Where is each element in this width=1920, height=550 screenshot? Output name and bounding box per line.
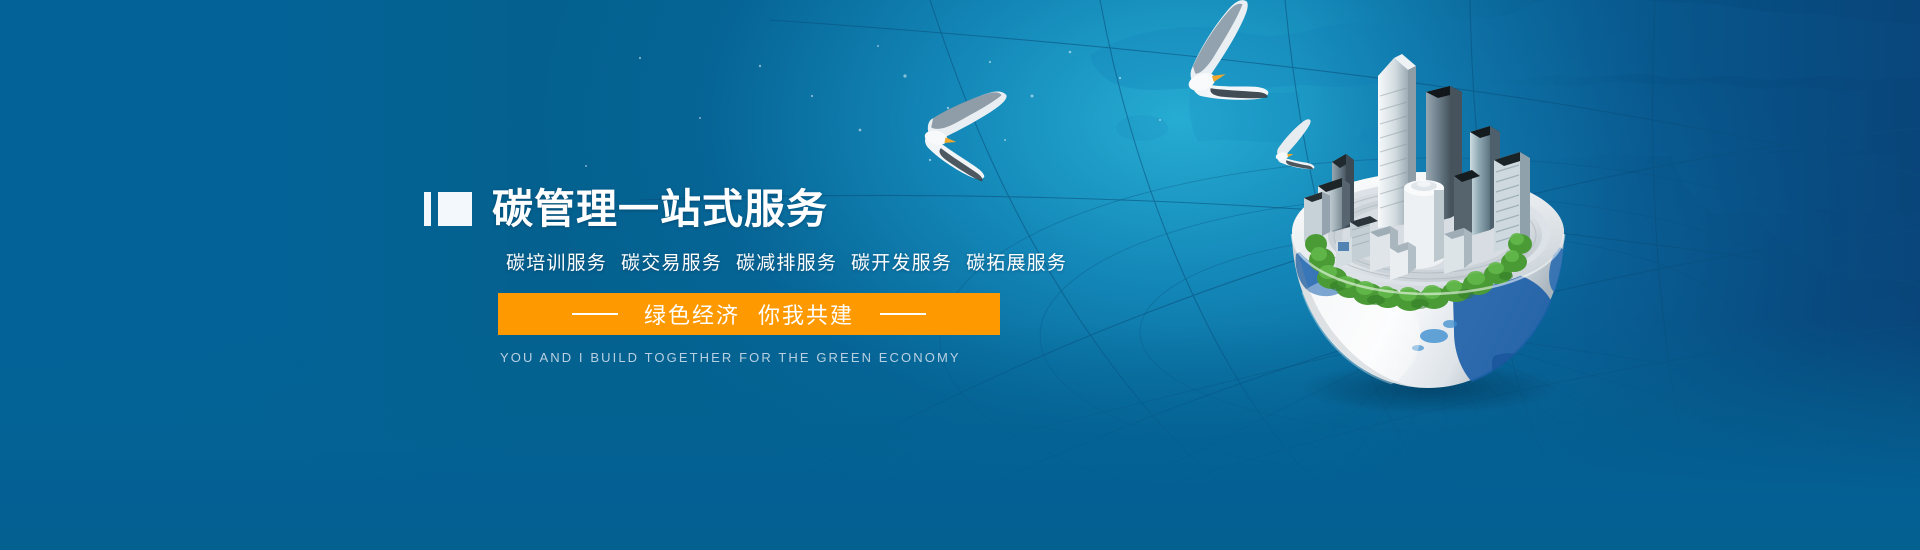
headline-row: 碳管理一站式服务 [424,184,1124,234]
dash-left-icon [572,313,618,315]
page-title: 碳管理一站式服务 [492,189,828,230]
dash-right-icon [880,313,926,315]
english-tagline: YOU AND I BUILD TOGETHER FOR THE GREEN E… [500,350,1124,365]
service-item-4: 碳拓展服务 [966,253,1067,274]
mark-square-icon [438,192,472,226]
bar-and-square-icon [424,192,472,226]
eco-city-globe-icon [1258,36,1598,436]
service-item-3: 碳开发服务 [851,253,952,274]
service-item-0: 碳培训服务 [506,253,607,274]
slogan-banner: 绿色经济你我共建 [498,293,1000,335]
carbon-management-banner: 碳管理一站式服务 碳培训服务碳交易服务碳减排服务碳开发服务碳拓展服务 绿色经济你… [0,0,1920,550]
service-list: 碳培训服务碳交易服务碳减排服务碳开发服务碳拓展服务 [506,248,1124,275]
slogan-text: 绿色经济你我共建 [644,298,854,330]
service-item-2: 碳减排服务 [736,253,837,274]
slogan-left: 绿色经济 [644,303,740,328]
banner-content: 碳管理一站式服务 碳培训服务碳交易服务碳减排服务碳开发服务碳拓展服务 绿色经济你… [424,184,1124,365]
service-item-1: 碳交易服务 [621,253,722,274]
slogan-right: 你我共建 [758,303,854,328]
mark-bar-icon [424,192,431,226]
